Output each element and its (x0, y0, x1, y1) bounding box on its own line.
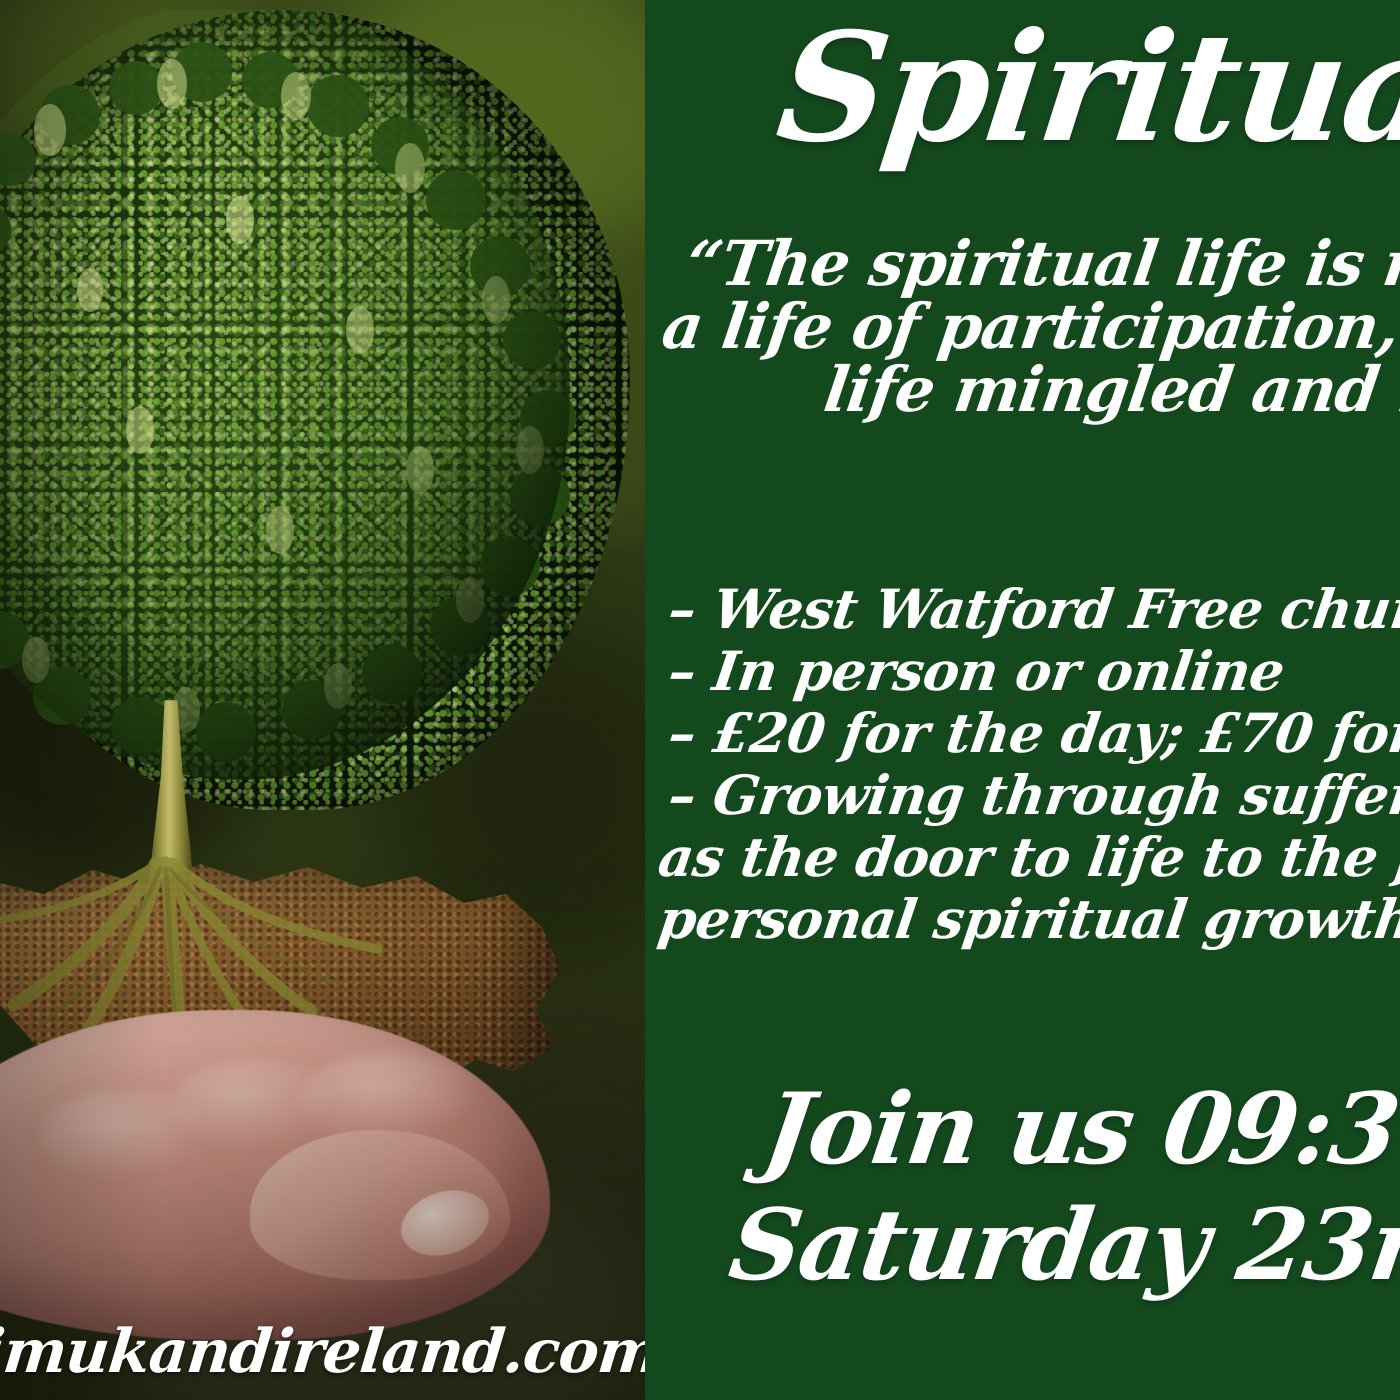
website-url-overlay: aimukandireland.com/ (0, 1322, 645, 1382)
tree-in-hand-photo: aimukandireland.com/ (0, 0, 645, 1400)
details-list: – West Watford Free church, Tolp – In pe… (645, 578, 1400, 951)
quote-block: “The spiritual life is not a a life of p… (645, 232, 1400, 422)
list-item: as the door to life to the full (Malc (645, 826, 1400, 888)
quote-line: a life of participation, aff (645, 295, 1400, 358)
list-item: – West Watford Free church, Tolp (645, 578, 1400, 640)
event-date: Saturday 23r (645, 1188, 1400, 1304)
list-item: – Growing through suffering (And (645, 764, 1400, 826)
event-time-block: Join us 09:3 Saturday 23r (645, 1072, 1400, 1303)
event-time: Join us 09:3 (645, 1072, 1400, 1188)
page-title: Spiritual (770, 6, 1400, 171)
poster-canvas: aimukandireland.com/ Spiritual “The spir… (0, 0, 1400, 1400)
list-item: personal spiritual growth (Douglas (645, 888, 1400, 950)
info-panel: Spiritual “The spiritual life is not a a… (645, 0, 1400, 1400)
quote-line: life mingled and mixi (645, 358, 1400, 421)
canopy-silhouette-icon (0, 10, 630, 810)
tree-canopy (0, 10, 645, 830)
list-item: – £20 for the day; £70 for the co (645, 702, 1400, 764)
quote-line: “The spiritual life is not a (645, 232, 1400, 295)
list-item: – In person or online (645, 640, 1400, 702)
